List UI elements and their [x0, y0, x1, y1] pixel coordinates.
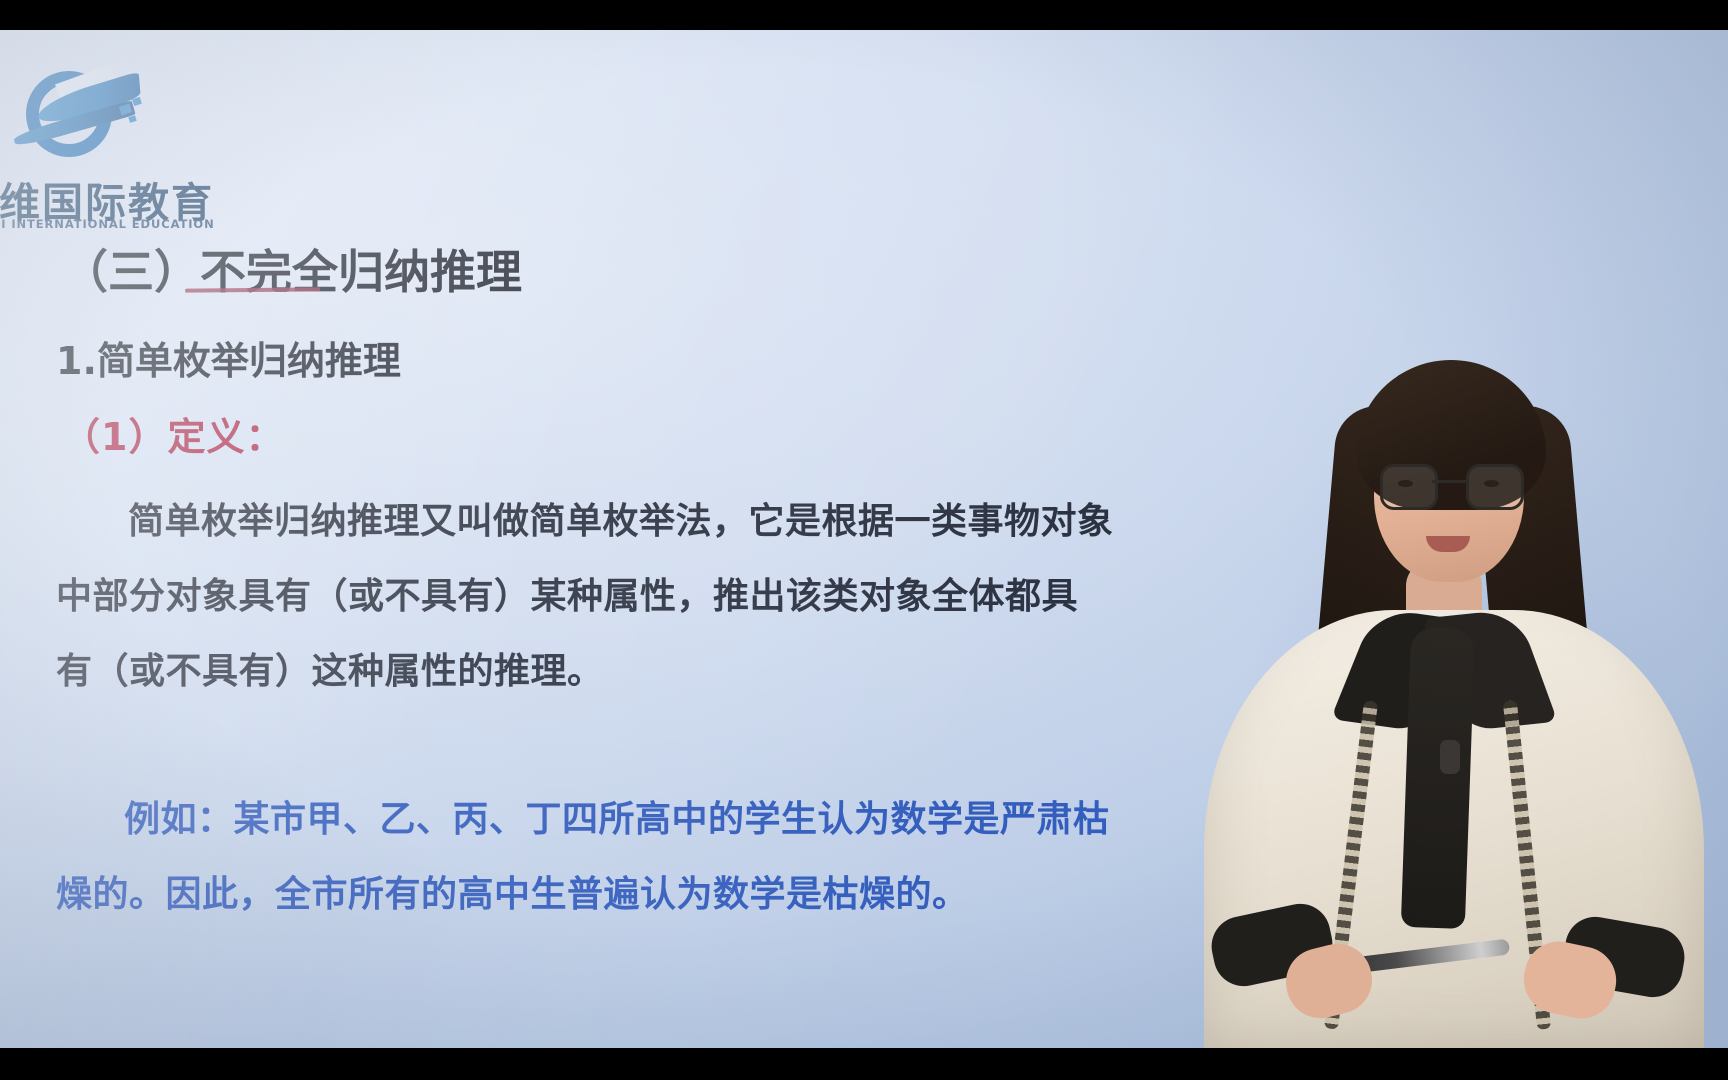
brand-logo: 国维国际教育 UOWEI INTERNATIONAL EDUCATION	[0, 65, 232, 225]
lavalier-mic-icon	[1440, 740, 1460, 774]
lecture-slide: 国维国际教育 UOWEI INTERNATIONAL EDUCATION （三）…	[0, 30, 1728, 1048]
brand-name-en: UOWEI INTERNATIONAL EDUCATION	[0, 217, 215, 231]
example-line: 例如：某市甲、乙、丙、丁四所高中的学生认为数学是严肃枯	[124, 790, 1110, 842]
slide-subtitle: 1.简单枚举归纳推理	[56, 330, 401, 385]
eyeglasses-lens-right	[1466, 464, 1524, 510]
slide-title: （三）不完全归纳推理	[62, 236, 522, 302]
body-line: 有（或不具有）这种属性的推理。	[56, 642, 604, 694]
eyeglasses-lens-left	[1380, 464, 1438, 510]
instructor-eye-right	[1484, 480, 1499, 487]
definition-heading: （1）定义：	[62, 406, 284, 461]
logo-speck-3	[128, 115, 137, 123]
body-line: 简单枚举归纳推理又叫做简单枚举法，它是根据一类事物对象	[128, 492, 1114, 544]
instructor-figure	[1168, 310, 1728, 1080]
swoosh-globe-logo-icon	[10, 65, 150, 173]
example-line: 燥的。因此，全市所有的高中生普遍认为数学是枯燥的。	[56, 865, 969, 917]
letterbox-bar-bottom	[0, 1048, 1728, 1080]
instructor-placket	[1401, 627, 1475, 929]
eyeglasses-bridge	[1432, 480, 1466, 483]
logo-speck-2	[132, 97, 142, 106]
video-lecture-frame: 国维国际教育 UOWEI INTERNATIONAL EDUCATION （三）…	[0, 0, 1728, 1080]
instructor-eye-left	[1398, 480, 1413, 487]
body-line: 中部分对象具有（或不具有）某种属性，推出该类对象全体都具	[56, 567, 1078, 619]
letterbox-bar-top	[0, 0, 1728, 30]
